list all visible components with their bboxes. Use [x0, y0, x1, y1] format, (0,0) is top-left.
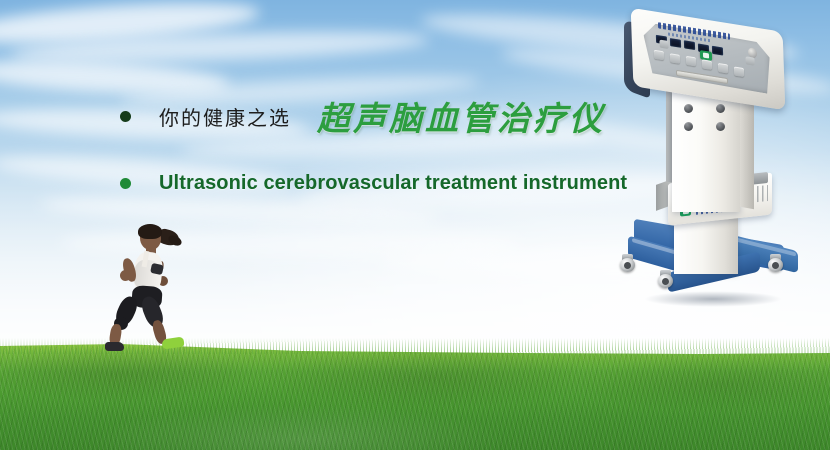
- front-shoe: [105, 342, 124, 351]
- bullet-point-icon: [120, 178, 131, 189]
- caster-hub: [624, 262, 631, 269]
- keypad-button[interactable]: [718, 63, 728, 74]
- front-fist: [120, 270, 131, 281]
- subtitle-chinese: 你的健康之选: [159, 102, 291, 131]
- caster-wheel: [658, 270, 674, 288]
- display-segment: [712, 46, 723, 56]
- caster-hub: [662, 278, 669, 285]
- support-column-side: [740, 95, 754, 209]
- hair: [138, 224, 162, 239]
- probe-port-icon: [684, 122, 693, 131]
- caster-hub: [772, 262, 779, 269]
- headline-row-secondary: Ultrasonic cerebrovascular treatment ins…: [120, 172, 627, 195]
- keypad-button-secondary[interactable]: [659, 40, 668, 49]
- keypad-button[interactable]: [686, 56, 696, 67]
- hair-ponytail-tip: [167, 233, 184, 248]
- jogging-woman: [96, 224, 216, 352]
- caster-wheel: [620, 254, 636, 272]
- support-column: [672, 92, 740, 212]
- page-title: 超声脑血管治疗仪: [317, 92, 605, 140]
- keypad-button[interactable]: [702, 59, 712, 70]
- arm-band: [150, 263, 164, 275]
- probe-port-icon: [716, 122, 725, 131]
- display-segment: [670, 38, 681, 48]
- back-shoe: [161, 337, 184, 350]
- keypad-button[interactable]: [670, 53, 680, 64]
- subtitle-english: Ultrasonic cerebrovascular treatment ins…: [159, 172, 627, 195]
- keypad-button[interactable]: [734, 66, 744, 77]
- display-segment: [684, 40, 695, 50]
- probe-port-icon: [684, 104, 693, 113]
- grass-texture: [0, 344, 830, 450]
- device-shadow: [618, 288, 808, 310]
- bullet-point-icon: [120, 111, 131, 122]
- caster-wheel: [768, 254, 784, 272]
- product-banner: 你的健康之选 超声脑血管治疗仪 Ultrasonic cerebrovascul…: [0, 0, 830, 450]
- keypad-button-secondary[interactable]: [745, 56, 754, 65]
- probe-port-icon: [716, 104, 725, 113]
- headline-row-primary: 你的健康之选 超声脑血管治疗仪: [120, 92, 605, 140]
- keypad-button[interactable]: [654, 50, 664, 61]
- treatment-instrument-trolley: [612, 16, 818, 316]
